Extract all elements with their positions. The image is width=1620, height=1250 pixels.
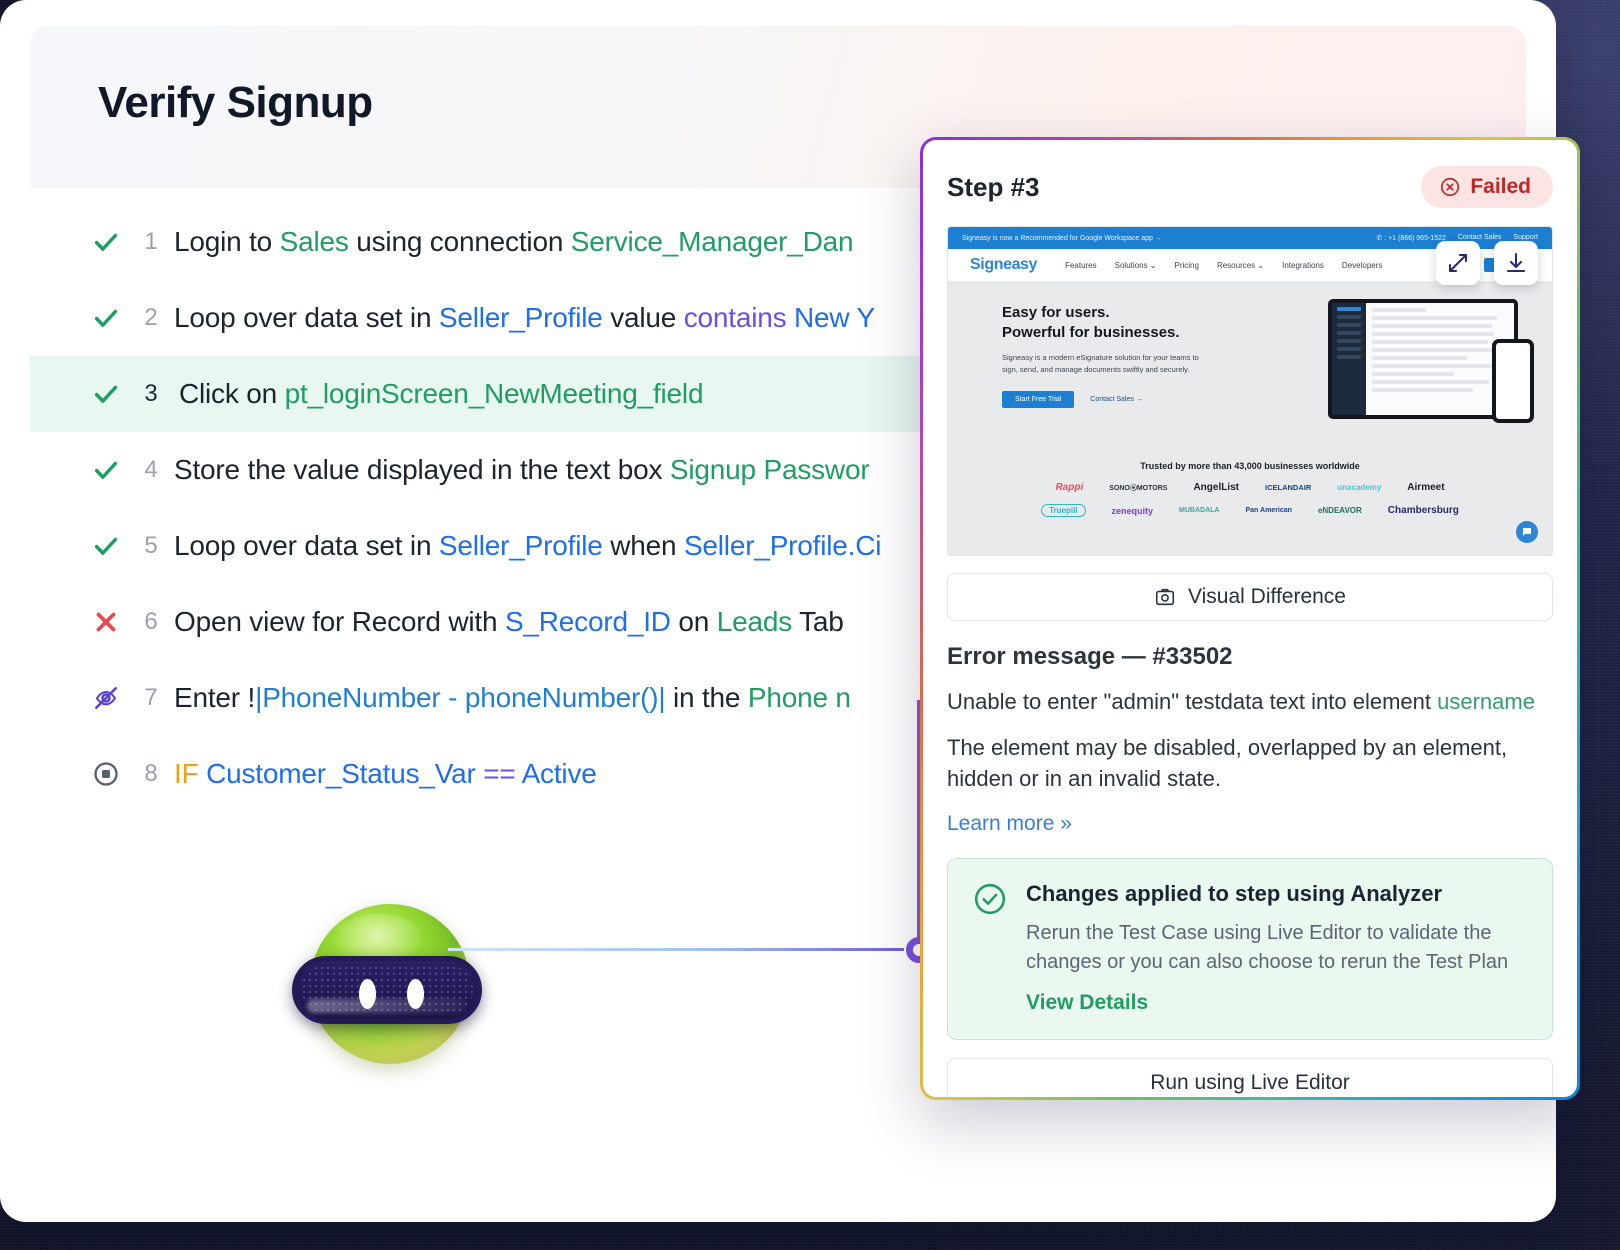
- step-token: Tab: [792, 606, 844, 637]
- step-token: Loop over data set in: [174, 530, 439, 561]
- step-token: Seller_Profile.Ci: [684, 530, 881, 561]
- step-status-passed-icon: [84, 455, 128, 485]
- step-status-passed-icon: [84, 379, 128, 409]
- status-badge: Failed: [1421, 166, 1553, 208]
- step-token: PhoneNumber - phoneNumber(): [262, 682, 658, 713]
- preview-logo-rappi: Rappi: [1055, 482, 1083, 493]
- preview-logos-row-2: Truepill zenequity MUBADALA Pan American…: [948, 504, 1552, 517]
- preview-nav-2: Pricing: [1174, 261, 1198, 270]
- step-token: in the: [665, 682, 747, 713]
- step-token: pt_loginScreen_NewMeeting_field: [285, 378, 704, 409]
- step-status-passed-icon: [84, 531, 128, 561]
- analyzer-body: Rerun the Test Case using Live Editor to…: [1026, 919, 1528, 977]
- preview-logo-truepill: Truepill: [1041, 504, 1085, 517]
- step-token: Seller_Profile: [439, 302, 603, 333]
- step-token: New Y: [786, 302, 875, 333]
- preview-logo-airmeet: Airmeet: [1407, 482, 1444, 493]
- step-status-stopped-icon: [84, 760, 128, 788]
- step-token: Service_Manager_Dan: [571, 226, 854, 257]
- preview-phone-mock: [1492, 339, 1534, 423]
- download-icon: [1504, 251, 1528, 275]
- step-token: contains: [684, 302, 787, 333]
- step-token: IF: [174, 758, 206, 789]
- step-token: ==: [476, 758, 522, 789]
- step-number: 1: [128, 228, 174, 256]
- preview-logo-sonomotors: SONO⦿MOTORS: [1109, 483, 1167, 493]
- connector-line: [448, 948, 904, 951]
- preview-logo-chambersburg: Chambersburg: [1388, 505, 1459, 516]
- step-status-disabled-icon: [84, 683, 128, 713]
- error-message-title: Error message — #33502: [947, 643, 1553, 671]
- step-description: Store the value displayed in the text bo…: [174, 454, 869, 486]
- camera-icon: [1154, 586, 1176, 608]
- run-button-label: Run using Live Editor: [1150, 1071, 1350, 1095]
- preview-nav-3: Resources ⌄: [1217, 261, 1264, 270]
- step-token: Click on: [179, 378, 285, 409]
- error-line-1-prefix: Unable to enter "admin" testdata text in…: [947, 689, 1437, 714]
- preview-start-free-trial-button: Start Free Trial: [1002, 391, 1074, 408]
- learn-more-link[interactable]: Learn more »: [947, 812, 1072, 836]
- step-number: 6: [128, 608, 174, 636]
- step-token: on: [671, 606, 717, 637]
- step-description: Loop over data set in Seller_Profile whe…: [174, 530, 881, 562]
- step-token: !: [248, 682, 256, 713]
- error-message-line-2: The element may be disabled, overlapped …: [947, 733, 1553, 794]
- analyzer-callout: Changes applied to step using Analyzer R…: [947, 858, 1553, 1040]
- step-status-failed-icon: [84, 608, 128, 636]
- preview-logo-panamerican: Pan American: [1246, 507, 1292, 514]
- preview-tools: [1436, 241, 1538, 285]
- preview-contact-sales-link: Contact Sales →: [1090, 396, 1143, 403]
- error-element-name: username: [1437, 689, 1535, 714]
- preview-nav-0: Features: [1065, 261, 1097, 270]
- run-using-live-editor-button[interactable]: Run using Live Editor: [947, 1058, 1553, 1097]
- step-token: Loop over data set in: [174, 302, 439, 333]
- view-details-link[interactable]: View Details: [1026, 991, 1148, 1015]
- step-token: Login to: [174, 226, 280, 257]
- preview-logo-angellist: AngelList: [1193, 482, 1239, 493]
- expand-arrows-icon: [1446, 251, 1470, 275]
- preview-nav-5: Developers: [1342, 261, 1382, 270]
- preview-logo-zenequity: zenequity: [1112, 506, 1154, 516]
- step-number: 7: [128, 684, 174, 712]
- visor-gloss: [307, 999, 467, 1013]
- error-message-line-1: Unable to enter "admin" testdata text in…: [947, 687, 1553, 717]
- visual-difference-button[interactable]: Visual Difference: [947, 573, 1553, 621]
- mascot-visor: [292, 956, 482, 1024]
- analyzer-text-block: Changes applied to step using Analyzer R…: [1026, 881, 1528, 1015]
- step-token: Signup Passwor: [670, 454, 870, 485]
- preview-nav-1: Solutions ⌄: [1115, 261, 1157, 270]
- preview-logo-mubadala: MUBADALA: [1179, 507, 1219, 514]
- preview-laptop-sidebar: [1332, 303, 1366, 415]
- step-token: Enter: [174, 682, 248, 713]
- step-description: IF Customer_Status_Var == Active: [174, 758, 597, 790]
- step-token: Seller_Profile: [439, 530, 603, 561]
- step-number: 4: [128, 456, 174, 484]
- visual-difference-label: Visual Difference: [1188, 585, 1346, 609]
- preview-brand-logo: Signeasy: [970, 256, 1037, 274]
- preview-logo-unacademy: unacademy: [1337, 483, 1381, 492]
- step-status-passed-icon: [84, 227, 128, 257]
- step-screenshot-preview[interactable]: Signeasy is now a Recommended for Google…: [947, 226, 1553, 556]
- preview-trust-title: Trusted by more than 43,000 businesses w…: [948, 461, 1552, 471]
- step-description: Click on pt_loginScreen_NewMeeting_field: [174, 378, 703, 410]
- step-number: 5: [128, 532, 174, 560]
- step-token: Phone n: [748, 682, 851, 713]
- step-description: Loop over data set in Seller_Profile val…: [174, 302, 875, 334]
- preview-subtext: Signeasy is a modern eSignature solution…: [1002, 352, 1202, 378]
- step-status-passed-icon: [84, 303, 128, 333]
- step-token: Sales: [280, 226, 349, 257]
- mascot-eye-right: [407, 979, 424, 1009]
- step-token: Leads: [717, 606, 792, 637]
- failed-circle-x-icon: [1439, 176, 1461, 198]
- chat-icon: [1521, 526, 1533, 538]
- step-token: value: [603, 302, 684, 333]
- step-description: Enter !|PhoneNumber - phoneNumber()| in …: [174, 682, 851, 714]
- page-title: Verify Signup: [98, 78, 373, 128]
- mascot-eye-left: [359, 979, 376, 1009]
- preview-logos-row-1: Rappi SONO⦿MOTORS AngelList ICELANDAIR u…: [948, 482, 1552, 493]
- analyzer-title: Changes applied to step using Analyzer: [1026, 881, 1528, 907]
- preview-announcement-text: Signeasy is now a Recommended for Google…: [962, 235, 1162, 242]
- panel-title: Step #3: [947, 172, 1040, 203]
- status-badge-label: Failed: [1470, 175, 1531, 199]
- preview-laptop-mock: [1328, 299, 1518, 419]
- preview-logo-icelandair: ICELANDAIR: [1265, 483, 1311, 492]
- step-description: Login to Sales using connection Service_…: [174, 226, 853, 258]
- step-detail-panel-inner: Step #3 Failed Signeasy is now a Recomme…: [923, 140, 1577, 1097]
- step-token: using connection: [349, 226, 571, 257]
- step-token: Store the value displayed in the text bo…: [174, 454, 670, 485]
- step-token: Active: [522, 758, 597, 789]
- download-button[interactable]: [1494, 241, 1538, 285]
- step-number: 3: [128, 380, 174, 408]
- chat-bubble-button[interactable]: [1516, 521, 1538, 543]
- expand-button[interactable]: [1436, 241, 1480, 285]
- step-number: 2: [128, 304, 174, 332]
- preview-logo-endeavor: eNDEAVOR: [1318, 506, 1362, 515]
- step-detail-panel: Step #3 Failed Signeasy is now a Recomme…: [920, 137, 1580, 1100]
- preview-nav-4: Integrations: [1282, 261, 1324, 270]
- step-number: 8: [128, 760, 174, 788]
- preview-hero: Easy for users. Powerful for businesses.…: [948, 281, 1552, 453]
- step-description: Open view for Record with S_Record_ID on…: [174, 606, 844, 638]
- step-token: when: [603, 530, 684, 561]
- check-circle-icon: [972, 881, 1008, 1015]
- preview-trust-section: Trusted by more than 43,000 businesses w…: [948, 453, 1552, 517]
- panel-header: Step #3 Failed: [947, 166, 1553, 208]
- mascot-avatar: [292, 898, 482, 1068]
- step-token: Open view for Record with: [174, 606, 505, 637]
- step-token: S_Record_ID: [505, 606, 671, 637]
- step-token: Customer_Status_Var: [206, 758, 476, 789]
